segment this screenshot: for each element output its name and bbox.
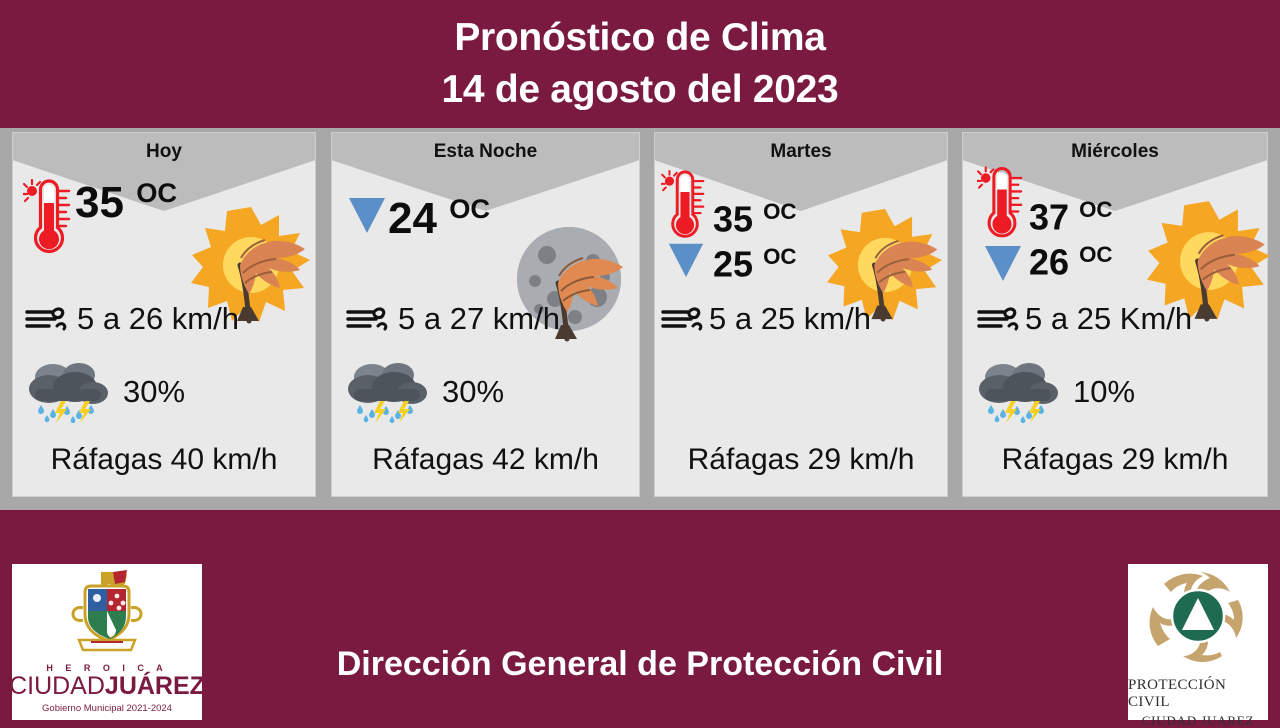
rain-cloud-icon [977, 361, 1063, 423]
high-temperature-value: 35 OC [713, 193, 797, 238]
wind-row: 5 a 25 km/h [655, 301, 947, 337]
card-day-label: Hoy [13, 141, 315, 163]
gusts-row: Ráfagas 42 km/h [332, 443, 639, 477]
thermometer-hot-icon [23, 169, 75, 261]
wind-row: 5 a 27 km/h [332, 301, 639, 337]
degree-symbol: O [449, 193, 470, 224]
sun-spark-icon [23, 180, 40, 201]
logo-ciudad-juarez-label: CIUDADJUÁREZ [9, 673, 205, 700]
rain-cloud-icon [346, 361, 432, 423]
weather-forecast-infographic: Pronóstico de Clima 14 de agosto del 202… [0, 0, 1280, 728]
rain-chance-value: 30% [442, 374, 504, 410]
rain-chance-value: 30% [123, 374, 185, 410]
gusts-row: Ráfagas 29 km/h [963, 443, 1267, 477]
low-temperature-triangle-icon [666, 239, 708, 281]
degree-symbol: O [1079, 197, 1096, 222]
wind-value: 5 a 27 km/h [398, 301, 560, 337]
low-temperature-triangle-icon [346, 193, 388, 235]
temperature-row: 37 OC 26 OC [963, 157, 1267, 287]
gusts-row: Ráfagas 29 km/h [655, 443, 947, 477]
gusts-row: Ráfagas 40 km/h [13, 443, 315, 477]
forecast-card[interactable]: Miércoles [962, 132, 1268, 497]
wind-icon [25, 304, 71, 334]
proteccion-civil-city-label: CIUDAD JUAREZ [1142, 713, 1255, 728]
civil-protection-emblem-icon [1144, 568, 1252, 677]
card-day-label: Martes [655, 141, 947, 163]
low-temperature-value: 25 OC [713, 238, 797, 283]
header-title-line-2: 14 de agosto del 2023 [442, 64, 839, 116]
degree-symbol: O [763, 199, 780, 224]
wind-row: 5 a 26 km/h [13, 301, 315, 337]
card-day-label: Esta Noche [332, 141, 639, 163]
sun-spark-icon [661, 171, 677, 190]
high-temperature-value: 37 OC [1029, 191, 1113, 236]
logo-gobierno-municipal-label: Gobierno Municipal 2021-2024 [42, 703, 172, 714]
thermometer-hot-icon [661, 161, 713, 245]
rain-chance-row: 10% [963, 361, 1267, 423]
temperature-row: 35 OC 25 OC [655, 161, 947, 291]
proteccion-civil-logo: PROTECCIÓN CIVIL CIUDAD JUAREZ [1128, 564, 1268, 720]
footer-title: Dirección General de Protección Civil [210, 600, 1070, 728]
rain-cloud-icon [27, 361, 113, 423]
wind-value: 5 a 26 km/h [77, 301, 239, 337]
temperature-row: 35 OC [13, 169, 315, 299]
wind-value: 5 a 25 Km/h [1025, 301, 1192, 337]
low-temperature-triangle-icon [982, 241, 1024, 283]
ciudad-juarez-logo: H E R O I C A CIUDADJUÁREZ Gobierno Muni… [12, 564, 202, 720]
degree-symbol: O [1079, 242, 1096, 267]
wind-value: 5 a 25 km/h [709, 301, 871, 337]
thermometer-hot-icon [977, 157, 1029, 245]
degree-symbol: O [136, 177, 157, 208]
sun-spark-icon [977, 168, 993, 188]
coat-of-arms-icon [61, 568, 153, 661]
wind-icon [346, 304, 392, 334]
header-banner: Pronóstico de Clima 14 de agosto del 202… [0, 0, 1280, 128]
temperature-row: 24 OC [332, 185, 639, 315]
proteccion-civil-label: PROTECCIÓN CIVIL [1128, 677, 1268, 711]
low-temperature-value: 26 OC [1029, 236, 1113, 281]
high-temperature-value: 35 OC [75, 169, 177, 227]
card-day-label: Miércoles [963, 141, 1267, 163]
wind-icon [977, 304, 1023, 334]
degree-symbol: O [763, 244, 780, 269]
forecast-card[interactable]: Esta Noche 24 OC [331, 132, 640, 497]
wind-icon [661, 304, 707, 334]
wind-row: 5 a 25 Km/h [963, 301, 1267, 337]
header-title-line-1: Pronóstico de Clima [454, 12, 825, 64]
rain-chance-row: 30% [332, 361, 639, 423]
low-temperature-value: 24 OC [388, 185, 490, 243]
forecast-card[interactable]: Martes [654, 132, 948, 497]
rain-chance-row: 30% [13, 361, 315, 423]
forecast-card[interactable]: Hoy [12, 132, 316, 497]
rain-chance-value: 10% [1073, 374, 1135, 410]
forecast-card-row: Hoy [0, 132, 1280, 500]
